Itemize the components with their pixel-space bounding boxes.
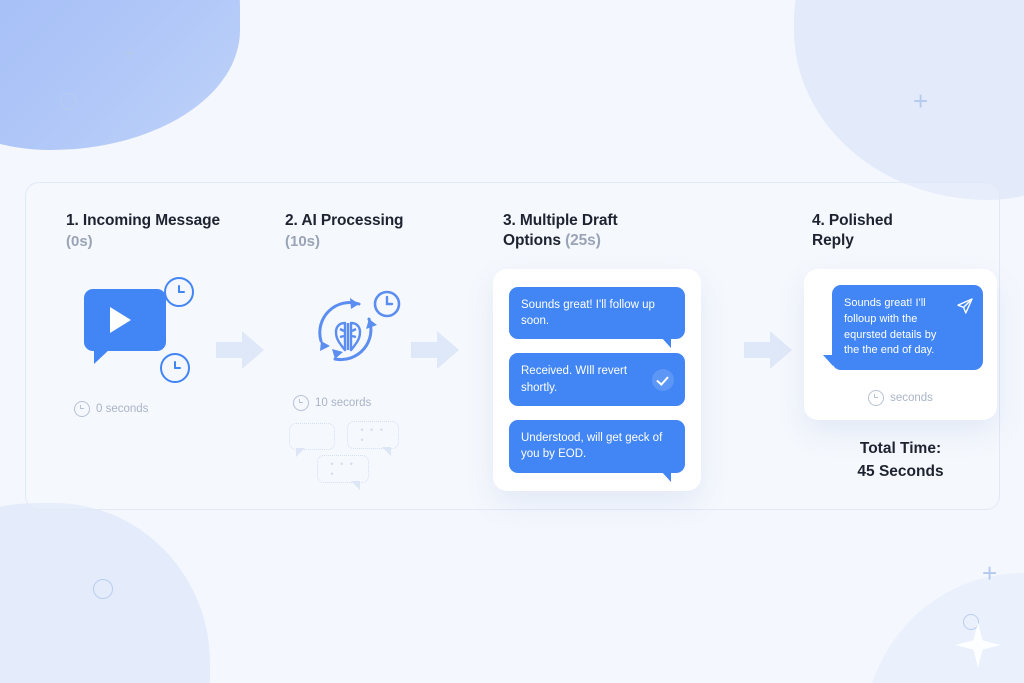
total-time-summary: Total Time: 45 Seconds xyxy=(804,438,997,483)
draft-message-3-text: Understood, will get geck of you by EOD. xyxy=(521,430,673,463)
draft-message-3[interactable]: Understood, will get geck of you by EOD. xyxy=(509,420,685,473)
step-4-time: seconds xyxy=(818,390,983,406)
step-4-time-label: seconds xyxy=(890,392,933,404)
clock-icon xyxy=(74,401,90,417)
ghost-bubble-dots: • • • • xyxy=(361,425,386,445)
polished-reply-message[interactable]: Sounds great! I'll folloup with the equr… xyxy=(832,285,983,371)
play-icon xyxy=(110,307,131,333)
workflow-panel: 1. Incoming Message (0s) 0 seconds 2. AI… xyxy=(25,182,1000,510)
step-3-title-line1: 3. Multiple Draft xyxy=(503,212,618,229)
arrow-right-icon xyxy=(744,331,792,369)
draft-message-1[interactable]: Sounds great! I'll follow up soon. xyxy=(509,287,685,340)
step-2-title: 2. AI Processing xyxy=(285,211,485,231)
clock-icon xyxy=(164,277,194,307)
clock-icon xyxy=(868,390,884,406)
step-1-subtitle: (0s) xyxy=(66,232,261,252)
draft-message-2-text: Received. WIll revert shortly. xyxy=(521,363,673,396)
step-1-time: 0 seconds xyxy=(74,401,261,417)
draft-message-2[interactable]: Received. WIll revert shortly. xyxy=(509,353,685,406)
circle-outline-icon xyxy=(963,614,979,630)
step-incoming-message: 1. Incoming Message (0s) 0 seconds xyxy=(66,211,261,417)
step-3-title: 3. Multiple Draft Options (25s) xyxy=(503,211,733,251)
draft-message-1-text: Sounds great! I'll follow up soon. xyxy=(521,297,673,330)
sparkle-icon xyxy=(955,622,1001,668)
speech-bubble-play-icon xyxy=(74,277,194,385)
check-icon xyxy=(652,369,674,391)
blob-top-left xyxy=(0,0,240,150)
step-1-title: 1. Incoming Message xyxy=(66,211,261,231)
step-3-title-line2: Options xyxy=(503,232,561,249)
total-time-value: 45 Seconds xyxy=(804,461,997,483)
circle-outline-icon xyxy=(93,579,113,599)
ghost-bubble xyxy=(289,423,335,450)
polished-reply-card: Sounds great! I'll folloup with the equr… xyxy=(804,269,997,421)
step-4-title-line2: Reply xyxy=(812,232,854,249)
step-2-time-label: 10 secords xyxy=(315,397,371,409)
plus-icon: + xyxy=(913,88,928,114)
clock-icon xyxy=(160,353,190,383)
blob-bottom-left xyxy=(0,503,210,683)
step-2-time: 10 secords xyxy=(293,395,485,411)
circle-outline-icon xyxy=(60,93,77,110)
plus-icon: + xyxy=(982,560,997,586)
total-time-label: Total Time: xyxy=(804,438,997,460)
arrow-right-icon xyxy=(216,331,264,369)
ghost-bubble: • • • • xyxy=(317,455,369,483)
step-multiple-drafts: 3. Multiple Draft Options (25s) Sounds g… xyxy=(503,211,733,491)
paper-plane-icon[interactable] xyxy=(956,297,974,315)
polished-reply-text: Sounds great! I'll folloup with the equr… xyxy=(844,297,936,357)
ghost-bubbles: • • • • • • • • xyxy=(289,421,409,483)
step-polished-reply: 4. Polished Reply Sounds great! I'll fol… xyxy=(812,211,1012,483)
plus-icon: + xyxy=(122,40,137,66)
arrow-right-icon xyxy=(411,331,459,369)
blob-bottom-right xyxy=(864,573,1024,683)
clock-icon xyxy=(293,395,309,411)
step-4-title-line1: 4. Polished xyxy=(812,212,893,229)
blob-top-right xyxy=(794,0,1024,200)
step-4-title: 4. Polished Reply xyxy=(812,211,1012,251)
step-2-subtitle: (10s) xyxy=(285,232,485,252)
ghost-bubble-dots: • • • • xyxy=(331,459,356,479)
workflow-steps: 1. Incoming Message (0s) 0 seconds 2. AI… xyxy=(26,183,999,509)
step-3-subtitle: (25s) xyxy=(565,232,601,249)
draft-options-card: Sounds great! I'll follow up soon. Recei… xyxy=(493,269,701,491)
step-1-time-label: 0 seconds xyxy=(96,403,148,415)
brain-refresh-icon xyxy=(299,279,409,379)
ghost-bubble: • • • • xyxy=(347,421,399,449)
